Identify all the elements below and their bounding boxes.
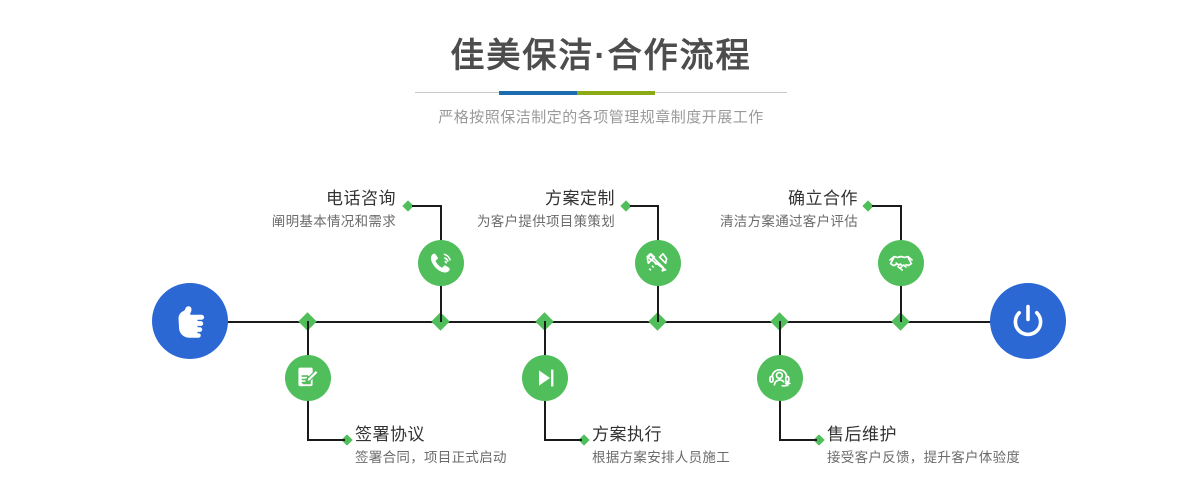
step-node-1[interactable] [418,240,464,286]
connector-horizontal-step-4 [544,439,582,441]
handshake-icon [887,249,915,277]
step-subtitle-4: 根据方案安排人员施工 [592,446,832,468]
header: 佳美保洁·合作流程 严格按照保洁制定的各项管理规章制度开展工作 [0,0,1202,127]
page-title: 佳美保洁·合作流程 [0,0,1202,77]
connector-horizontal-step-6 [779,439,817,441]
power-icon [1006,299,1050,343]
step-title-4: 方案执行 [592,424,832,446]
step-node-6[interactable] [757,355,803,401]
page-subtitle: 严格按照保洁制定的各项管理规章制度开展工作 [0,95,1202,127]
step-node-4[interactable] [522,355,568,401]
step-node-5[interactable] [878,240,924,286]
process-flow-infographic: 佳美保洁·合作流程 严格按照保洁制定的各项管理规章制度开展工作 [0,0,1202,502]
customer-service-icon [766,364,794,392]
step-title-1: 电话咨询 [196,188,396,210]
title-divider [415,91,787,95]
phone-call-icon [427,249,455,277]
end-endpoint[interactable] [990,283,1066,359]
step-subtitle-3: 为客户提供项目策策划 [420,210,615,232]
connector-horizontal-step-5 [872,205,902,207]
step-subtitle-1: 阐明基本情况和需求 [196,210,396,232]
pencil-ruler-icon [644,249,672,277]
start-endpoint[interactable] [152,283,228,359]
divider-blue-segment [499,91,577,95]
step-subtitle-5: 清洁方案通过客户评估 [660,210,858,232]
step-title-6: 售后维护 [827,424,1087,446]
step-label-6: 售后维护 接受客户反馈，提升客户体验度 [827,424,1087,468]
step-subtitle-2: 签署合同，项目正式启动 [355,446,595,468]
connector-horizontal-step-2 [307,439,345,441]
step-label-2: 签署协议 签署合同，项目正式启动 [355,424,595,468]
step-title-2: 签署协议 [355,424,595,446]
play-skip-icon [532,365,558,391]
connector-horizontal-step-1 [412,205,442,207]
step-subtitle-6: 接受客户反馈，提升客户体验度 [827,446,1087,468]
pointing-hand-icon [169,300,211,342]
divider-green-segment [577,91,655,95]
step-label-3: 方案定制 为客户提供项目策策划 [420,188,615,232]
step-label-5: 确立合作 清洁方案通过客户评估 [660,188,858,232]
step-node-2[interactable] [285,355,331,401]
step-label-4: 方案执行 根据方案安排人员施工 [592,424,832,468]
document-edit-icon [294,364,322,392]
step-node-3[interactable] [635,240,681,286]
step-title-3: 方案定制 [420,188,615,210]
connector-horizontal-step-3 [630,205,659,207]
step-label-1: 电话咨询 阐明基本情况和需求 [196,188,396,232]
step-title-5: 确立合作 [660,188,858,210]
